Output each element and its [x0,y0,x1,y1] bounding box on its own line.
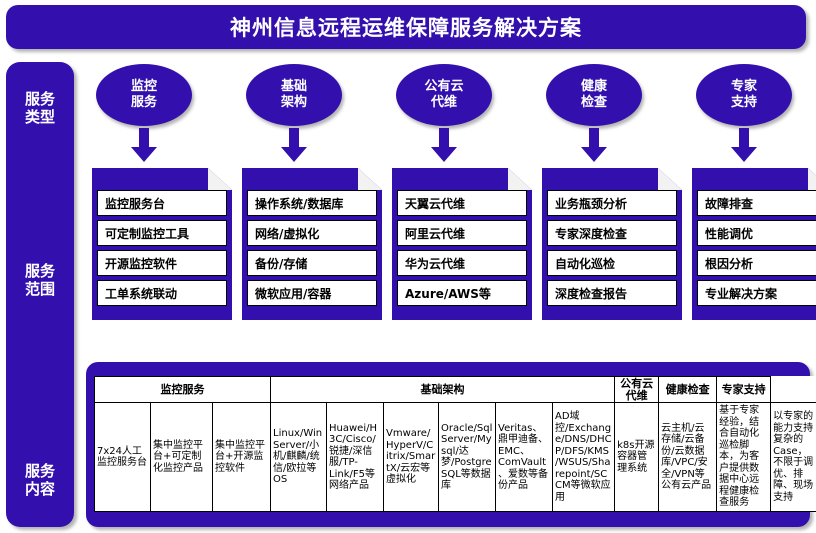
scope-item[interactable]: 深度检查报告 [547,280,677,306]
scope-box-3: 天翼云代维阿里云代维华为云代维Azure/AWS等 [392,168,532,320]
scope-item[interactable]: 操作系统/数据库 [247,190,377,216]
scope-item[interactable]: 开源监控软件 [97,250,227,276]
table-cell: 以专家的能力支持复杂的Case，不限于调优、排障、现场支持 [771,403,816,512]
scope-item[interactable]: 专业解决方案 [697,280,816,306]
down-arrow-icon [280,128,308,162]
scope-item-list: 故障排查性能调优根因分析专业解决方案 [697,190,816,306]
scope-box-5: 故障排查性能调优根因分析专业解决方案 [692,168,816,320]
scope-item[interactable]: 性能调优 [697,220,816,246]
table-cell: 集中监控平台+可定制化监控产品 [151,403,213,512]
down-arrow-icon [130,128,158,162]
scope-item[interactable]: 业务瓶颈分析 [547,190,677,216]
service-type-4-line2: 检查 [581,95,607,111]
down-arrow-icon [580,128,608,162]
scope-item[interactable]: 天翼云代维 [397,190,527,216]
sidebar-item-service-type: 服务 类型 [6,90,74,126]
table-cell: k8s开源容器管理系统 [615,403,659,512]
service-type-1[interactable]: 监控服务 [96,64,192,126]
scope-item[interactable]: 故障排查 [697,190,816,216]
service-type-3[interactable]: 公有云代维 [396,64,492,126]
scope-item[interactable]: 工单系统联动 [97,280,227,306]
scope-item-list: 业务瓶颈分析专家深度检查自动化巡检深度检查报告 [547,190,677,306]
service-content-panel: 监控服务基础架构公有云代维健康检查专家支持 7x24人工监控服务台集中监控平台+… [86,362,810,527]
scope-item[interactable]: 专家深度检查 [547,220,677,246]
table-cell: 7x24人工监控服务台 [95,403,151,512]
scope-item-list: 监控服务台可定制监控工具开源监控软件工单系统联动 [97,190,227,306]
scope-item[interactable]: Azure/AWS等 [397,280,527,306]
table-group-header: 监控服务 [95,377,271,403]
sidebar-item-service-content: 服务 内容 [6,462,74,498]
table-header-row: 监控服务基础架构公有云代维健康检查专家支持 [95,377,816,403]
folded-corner-icon [208,168,232,190]
service-type-2[interactable]: 基础架构 [246,64,342,126]
sidebar-item-service-type-line2: 类型 [6,108,74,126]
scope-item-list: 天翼云代维阿里云代维华为云代维Azure/AWS等 [397,190,527,306]
page-title-banner: 神州信息远程运维保障服务解决方案 [6,5,806,49]
service-type-3-line1: 公有云 [424,79,463,95]
table-group-header: 健康检查 [659,377,717,403]
sidebar-item-service-scope: 服务 范围 [6,262,74,298]
sidebar-item-service-scope-line1: 服务 [6,262,74,280]
scope-item[interactable]: 自动化巡检 [547,250,677,276]
folded-corner-icon [508,168,532,190]
sidebar: 服务 类型 服务 范围 服务 内容 [6,62,74,527]
service-type-5-line1: 专家 [731,79,757,95]
service-type-5-line2: 支持 [731,95,757,111]
folded-corner-icon [808,168,816,190]
table-cell: 云主机/云存储/云备份/云数据库/VPC/安全/VPN等公有云产品 [659,403,717,512]
folded-corner-icon [358,168,382,190]
table-cell: AD域控/Exchange/DNS/DHCP/DFS/KMS/WSUS/Shar… [553,403,615,512]
service-type-2-line1: 基础 [281,79,307,95]
table-cell: Vmware/HyperV/Citrix/SmartX/云宏等虚拟化 [384,403,439,512]
scope-item[interactable]: 华为云代维 [397,250,527,276]
table-group-header: 基础架构 [271,377,615,403]
table-cell: Veritas、鼎甲迪备、EMC、ComVault、爱数等备份产品 [496,403,553,512]
scope-item-list: 操作系统/数据库网络/虚拟化备份/存储微软应用/容器 [247,190,377,306]
page-title: 神州信息远程运维保障服务解决方案 [230,12,582,42]
scope-item[interactable]: 微软应用/容器 [247,280,377,306]
table-row: 7x24人工监控服务台集中监控平台+可定制化监控产品集中监控平台+开源监控软件L… [95,403,816,512]
scope-item[interactable]: 阿里云代维 [397,220,527,246]
down-arrow-icon [730,128,758,162]
service-type-2-line2: 架构 [281,95,307,111]
scope-box-2: 操作系统/数据库网络/虚拟化备份/存储微软应用/容器 [242,168,382,320]
service-content-table: 监控服务基础架构公有云代维健康检查专家支持 7x24人工监控服务台集中监控平台+… [94,376,816,512]
scope-item[interactable]: 网络/虚拟化 [247,220,377,246]
sidebar-item-service-type-line1: 服务 [6,90,74,108]
service-type-5[interactable]: 专家支持 [696,64,792,126]
table-cell: Linux/WinServer/小机/麒麟/统信/欧拉等OS [271,403,327,512]
service-type-4[interactable]: 健康检查 [546,64,642,126]
scope-item[interactable]: 根因分析 [697,250,816,276]
sidebar-item-service-content-line1: 服务 [6,462,74,480]
scope-item[interactable]: 备份/存储 [247,250,377,276]
folded-corner-icon [658,168,682,190]
scope-box-1: 监控服务台可定制监控工具开源监控软件工单系统联动 [92,168,232,320]
service-type-3-line2: 代维 [431,95,457,111]
service-type-1-line2: 服务 [131,95,157,111]
sidebar-item-service-content-line2: 内容 [6,480,74,498]
table-group-header: 公有云代维 [615,377,659,403]
scope-item[interactable]: 可定制监控工具 [97,220,227,246]
table-cell: Oracle/SqlServer/Mysql/达梦/PostgreSQL等数据库 [439,403,496,512]
table-cell: Huawei/H3C/Cisco/锐捷/深信服/TP-Link/F5等网络产品 [327,403,384,512]
sidebar-item-service-scope-line2: 范围 [6,280,74,298]
scope-item[interactable]: 监控服务台 [97,190,227,216]
table-cell: 集中监控平台+开源监控软件 [213,403,271,512]
down-arrow-icon [430,128,458,162]
table-cell: 基于专家经验，结合自动化巡检脚本，为客户提供数据中心远程健康检查服务 [717,403,771,512]
service-type-1-line1: 监控 [131,79,157,95]
service-type-4-line1: 健康 [581,79,607,95]
scope-box-4: 业务瓶颈分析专家深度检查自动化巡检深度检查报告 [542,168,682,320]
table-group-header: 专家支持 [717,377,771,403]
